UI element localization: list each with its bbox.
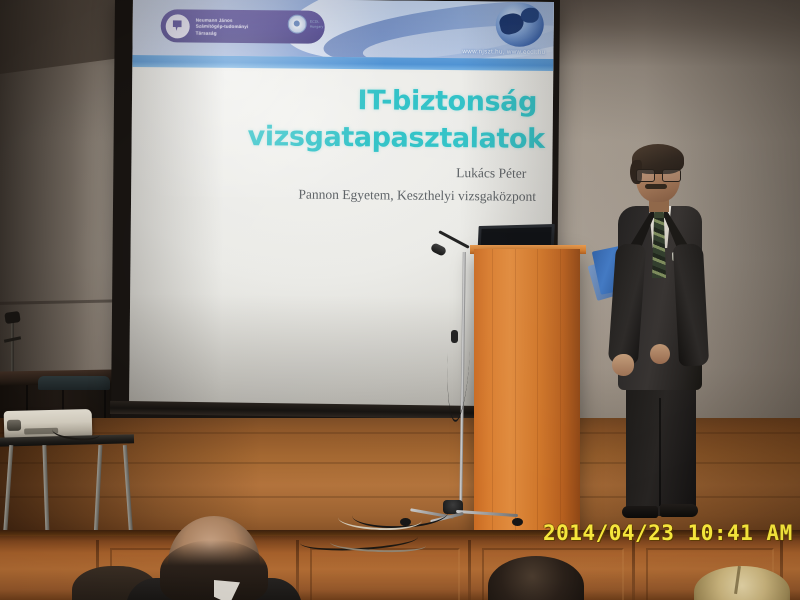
slide-title-line-1: IT-biztonság <box>357 85 537 118</box>
njszt-logo-text: Neumann János Számítógép-tudományi Társa… <box>196 17 249 36</box>
presenter-arm-right <box>673 243 709 366</box>
presenter <box>604 148 716 520</box>
presenter-legs <box>626 384 696 516</box>
ecdl-logo: ECDL Hungary <box>288 14 324 33</box>
glasses-icon <box>636 169 680 180</box>
stage-panel <box>310 548 460 600</box>
ecdl-logo-text: ECDL Hungary <box>310 20 324 29</box>
presenter-hand-right <box>650 344 670 364</box>
slide-author: Lukács Péter <box>456 165 526 182</box>
ecdl-mark-icon <box>288 14 307 33</box>
presenter-tie <box>652 212 666 278</box>
presenter-leg-split <box>659 398 661 506</box>
njszt-badge-icon <box>166 14 190 38</box>
stand-foot <box>512 518 523 526</box>
slide-title-line-2: vizsgatapasztalatok <box>247 118 544 158</box>
njszt-line-2: Számítógép-tudományi <box>196 24 249 30</box>
podium <box>474 249 580 537</box>
side-microphone-head-icon <box>4 311 20 324</box>
banner-url-text: www.njszt.hu, www.ecdl.hu <box>462 48 545 56</box>
presenter-hand-left <box>612 354 634 376</box>
side-chair <box>38 376 110 390</box>
presenter-mustache <box>645 184 667 189</box>
presentation-photo: Neumann János Számítógép-tudományi Társa… <box>0 0 800 600</box>
slide-header-banner: Neumann János Számítógép-tudományi Társa… <box>132 0 554 59</box>
presenter-shoe-left <box>622 506 658 518</box>
njszt-line-3: Társaság <box>196 30 249 36</box>
ecdl-line-2: Hungary <box>310 24 324 29</box>
slide-title: IT-biztonság vizsgatapasztalatok <box>247 81 537 158</box>
globe-icon <box>496 2 544 46</box>
projector-lens-icon <box>7 420 21 431</box>
side-microphone-stand <box>11 318 14 378</box>
camera-timestamp: 2014/04/23 10:41 AM <box>543 521 793 545</box>
presenter-shoe-right <box>660 504 698 517</box>
slide-affiliation: Pannon Egyetem, Keszthelyi vizsgaközpont <box>298 187 536 205</box>
njszt-line-1: Neumann János <box>196 17 249 23</box>
wall-left-shadow <box>0 0 130 418</box>
